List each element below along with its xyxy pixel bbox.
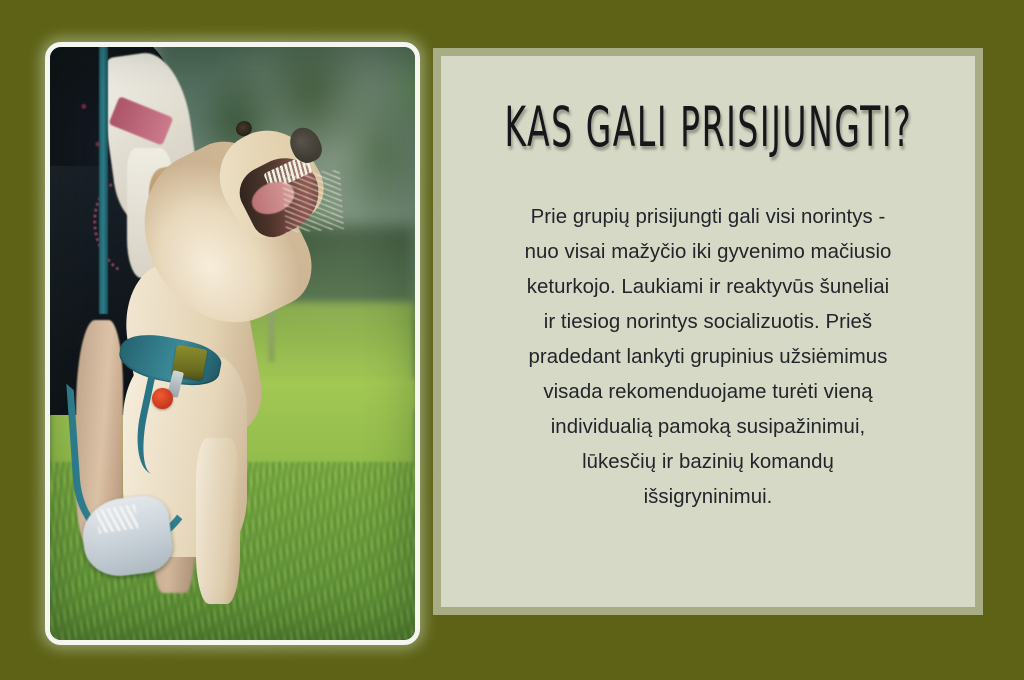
body-text: Prie grupių prisijungti gali visi norint… [525,200,892,515]
body-line: ir tiesiog norintys socializuotis. Prieš [544,311,872,333]
body-line: lūkesčių ir bazinių komandų [582,451,834,473]
text-panel: Kas gali prisijungti? Prie grupių prisij… [441,56,975,607]
dog-photo [50,47,415,640]
photo-vignette [50,47,415,640]
body-line: nuo visai mažyčio iki gyvenimo mačiusio [525,241,892,263]
body-line: išsigryninimui. [644,486,773,508]
body-line: keturkojo. Laukiami ir reaktyvūs šunelia… [527,276,889,298]
body-line: Prie grupių prisijungti gali visi norint… [531,206,886,228]
body-line: visada rekomenduojame turėti vieną [543,381,872,403]
body-line: individualią pamoką susipažinimui, [551,416,866,438]
photo-frame [45,42,420,645]
slide-canvas: Kas gali prisijungti? Prie grupių prisij… [0,0,1024,680]
body-line: pradedant lankyti grupinius užsiėmimus [529,346,888,368]
page-title: Kas gali prisijungti? [504,100,912,157]
